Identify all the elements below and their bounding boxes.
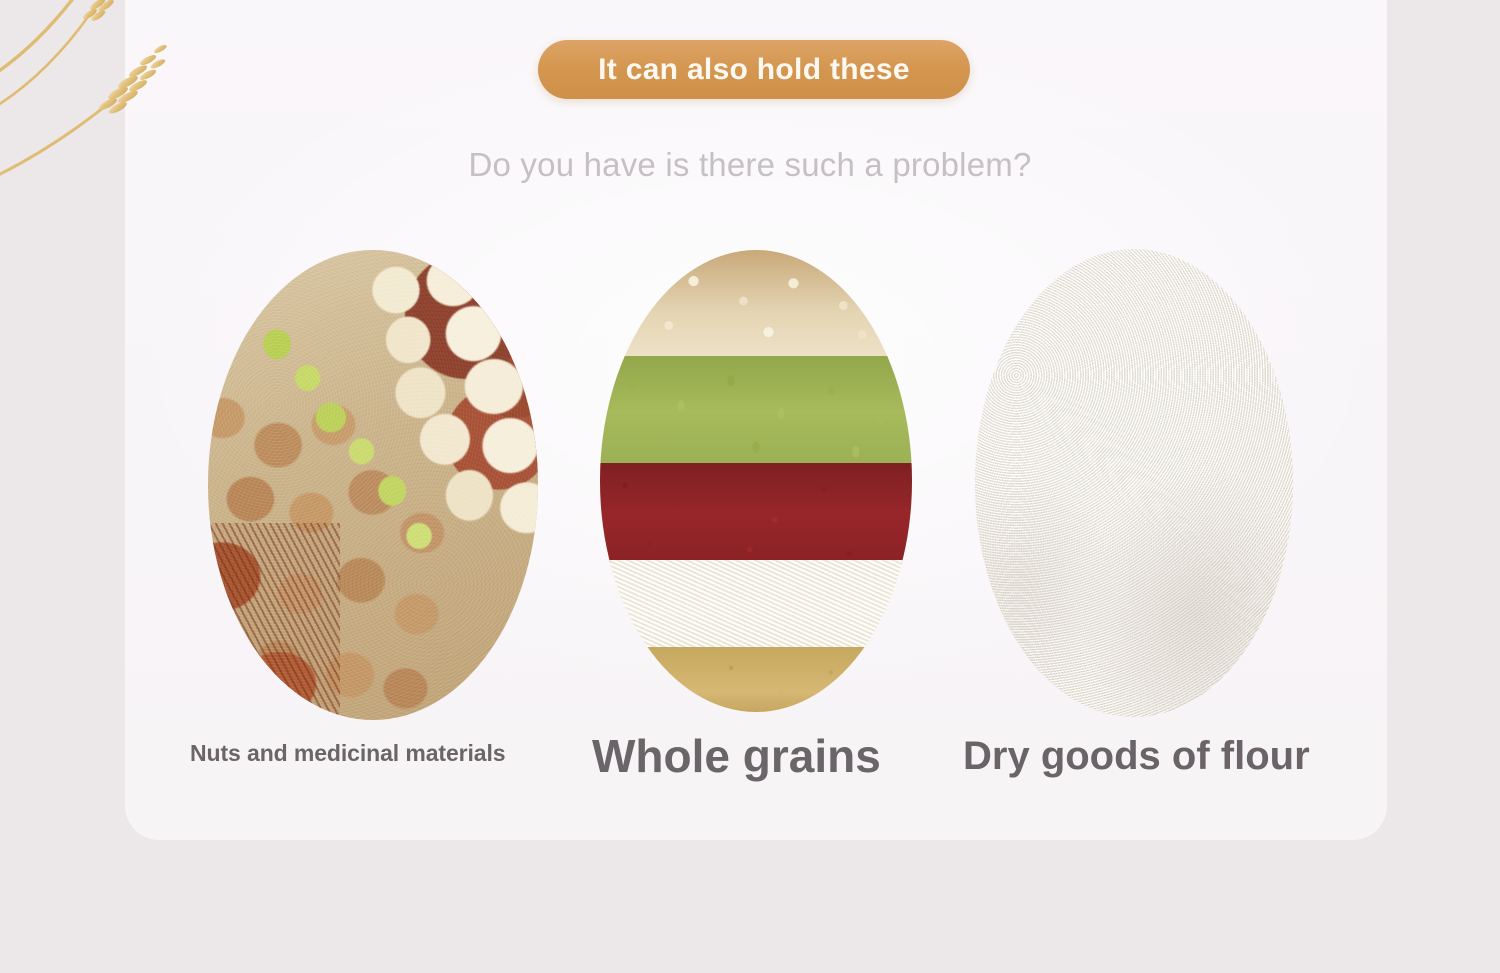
caption-nuts: Nuts and medicinal materials (190, 742, 505, 765)
whole-grains-photo (600, 250, 912, 712)
mixed-nuts-photo (208, 250, 538, 720)
red-beans-band (600, 463, 912, 565)
white-rice-band (600, 560, 912, 652)
flour-shading-layer (975, 249, 1293, 717)
flour-powder-photo (975, 249, 1293, 717)
caption-dry-goods-flour: Dry goods of flour (963, 736, 1310, 776)
subtitle-text: Do you have is there such a problem? (0, 146, 1500, 184)
pumpkin-seeds-band (600, 356, 912, 467)
header-banner-pill: It can also hold these (538, 40, 970, 99)
header-banner-label: It can also hold these (598, 53, 910, 87)
page-background: It can also hold these Do you have is th… (0, 0, 1500, 973)
millet-band (600, 647, 912, 712)
lotus-seeds-band (600, 250, 912, 361)
caption-whole-grains: Whole grains (592, 733, 881, 779)
nuts-grain-overlay (208, 250, 538, 720)
